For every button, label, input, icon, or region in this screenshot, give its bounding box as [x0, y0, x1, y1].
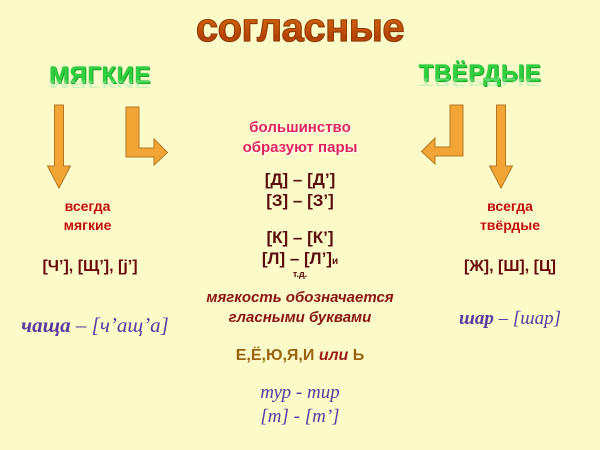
right-example-dash: –: [494, 308, 513, 329]
center-heading: большинство образуют пары: [180, 118, 420, 159]
left-example-dash: –: [71, 313, 92, 337]
left-example-transcription: [ч’ащ’а]: [92, 313, 169, 337]
slide-canvas: согласные МЯГКИЕ МЯГКИЕ ТВЁРДЫЕ ТВЁРДЫЕ …: [0, 0, 600, 450]
left-label-line1: всегда: [0, 197, 175, 216]
center-example-transcription: [т] - [т’]: [180, 406, 420, 428]
left-phoneme-list: [Ч’], [Щ’], [j’]: [0, 258, 180, 276]
explanation-line2: гласными буквами: [165, 308, 435, 328]
center-heading-line1: большинство: [180, 118, 420, 138]
pair-row-text: [Л] – [Л’]: [262, 249, 332, 268]
right-label-line2: твёрдые: [420, 216, 600, 235]
vowels-or: или: [319, 347, 349, 364]
pair-row: [Л] – [Л’]и: [180, 249, 420, 269]
center-example-words: тур - тир: [180, 382, 420, 404]
arrow-soft-down-icon: [46, 104, 72, 190]
pair-group-1: [Д] – [Д’] [З] – [З’]: [180, 170, 420, 211]
left-label-line2: мягкие: [0, 216, 175, 235]
explanation-line1: мягкость обозначается: [165, 288, 435, 308]
pair-group-2: [К] – [К’] [Л] – [Л’]и т.д.: [180, 228, 420, 279]
center-example: тур - тир [т] - [т’]: [180, 382, 420, 428]
right-example-transcription: [шар]: [513, 308, 561, 329]
pair-row: [З] – [З’]: [180, 191, 420, 211]
pair-and-marker: и: [332, 256, 338, 267]
center-heading-line2: образуют пары: [180, 138, 420, 158]
left-example-word: чаща: [21, 313, 71, 337]
soft-sign: Ь: [353, 347, 365, 364]
center-explanation: мягкость обозначается гласными буквами: [165, 288, 435, 327]
right-phoneme-list: [Ж], [Ш], [Ц]: [420, 258, 600, 276]
pair-row: [Д] – [Д’]: [180, 170, 420, 190]
vowels-list: Е,Ё,Ю,Я,И: [236, 347, 315, 364]
left-column-label: всегда мягкие: [0, 197, 175, 235]
heading-soft-reflection: МЯГКИЕ: [20, 77, 180, 90]
heading-hard-reflection: ТВЁРДЫЕ: [395, 75, 565, 88]
pair-row: [К] – [К’]: [180, 228, 420, 248]
arrow-soft-bend-right-icon: [123, 106, 169, 166]
page-title: согласные: [0, 6, 600, 51]
left-example: чаща – [ч’ащ’а]: [0, 313, 190, 338]
right-example: шар – [шар]: [420, 308, 600, 330]
right-example-word: шар: [459, 308, 494, 329]
right-column-label: всегда твёрдые: [420, 197, 600, 235]
arrow-hard-down-icon: [488, 104, 514, 190]
right-label-line1: всегда: [420, 197, 600, 216]
arrow-hard-bend-left-icon: [420, 104, 466, 166]
pair-etc-marker: т.д.: [180, 269, 420, 279]
vowels-line: Е,Ё,Ю,Я,И или Ь: [180, 347, 420, 365]
